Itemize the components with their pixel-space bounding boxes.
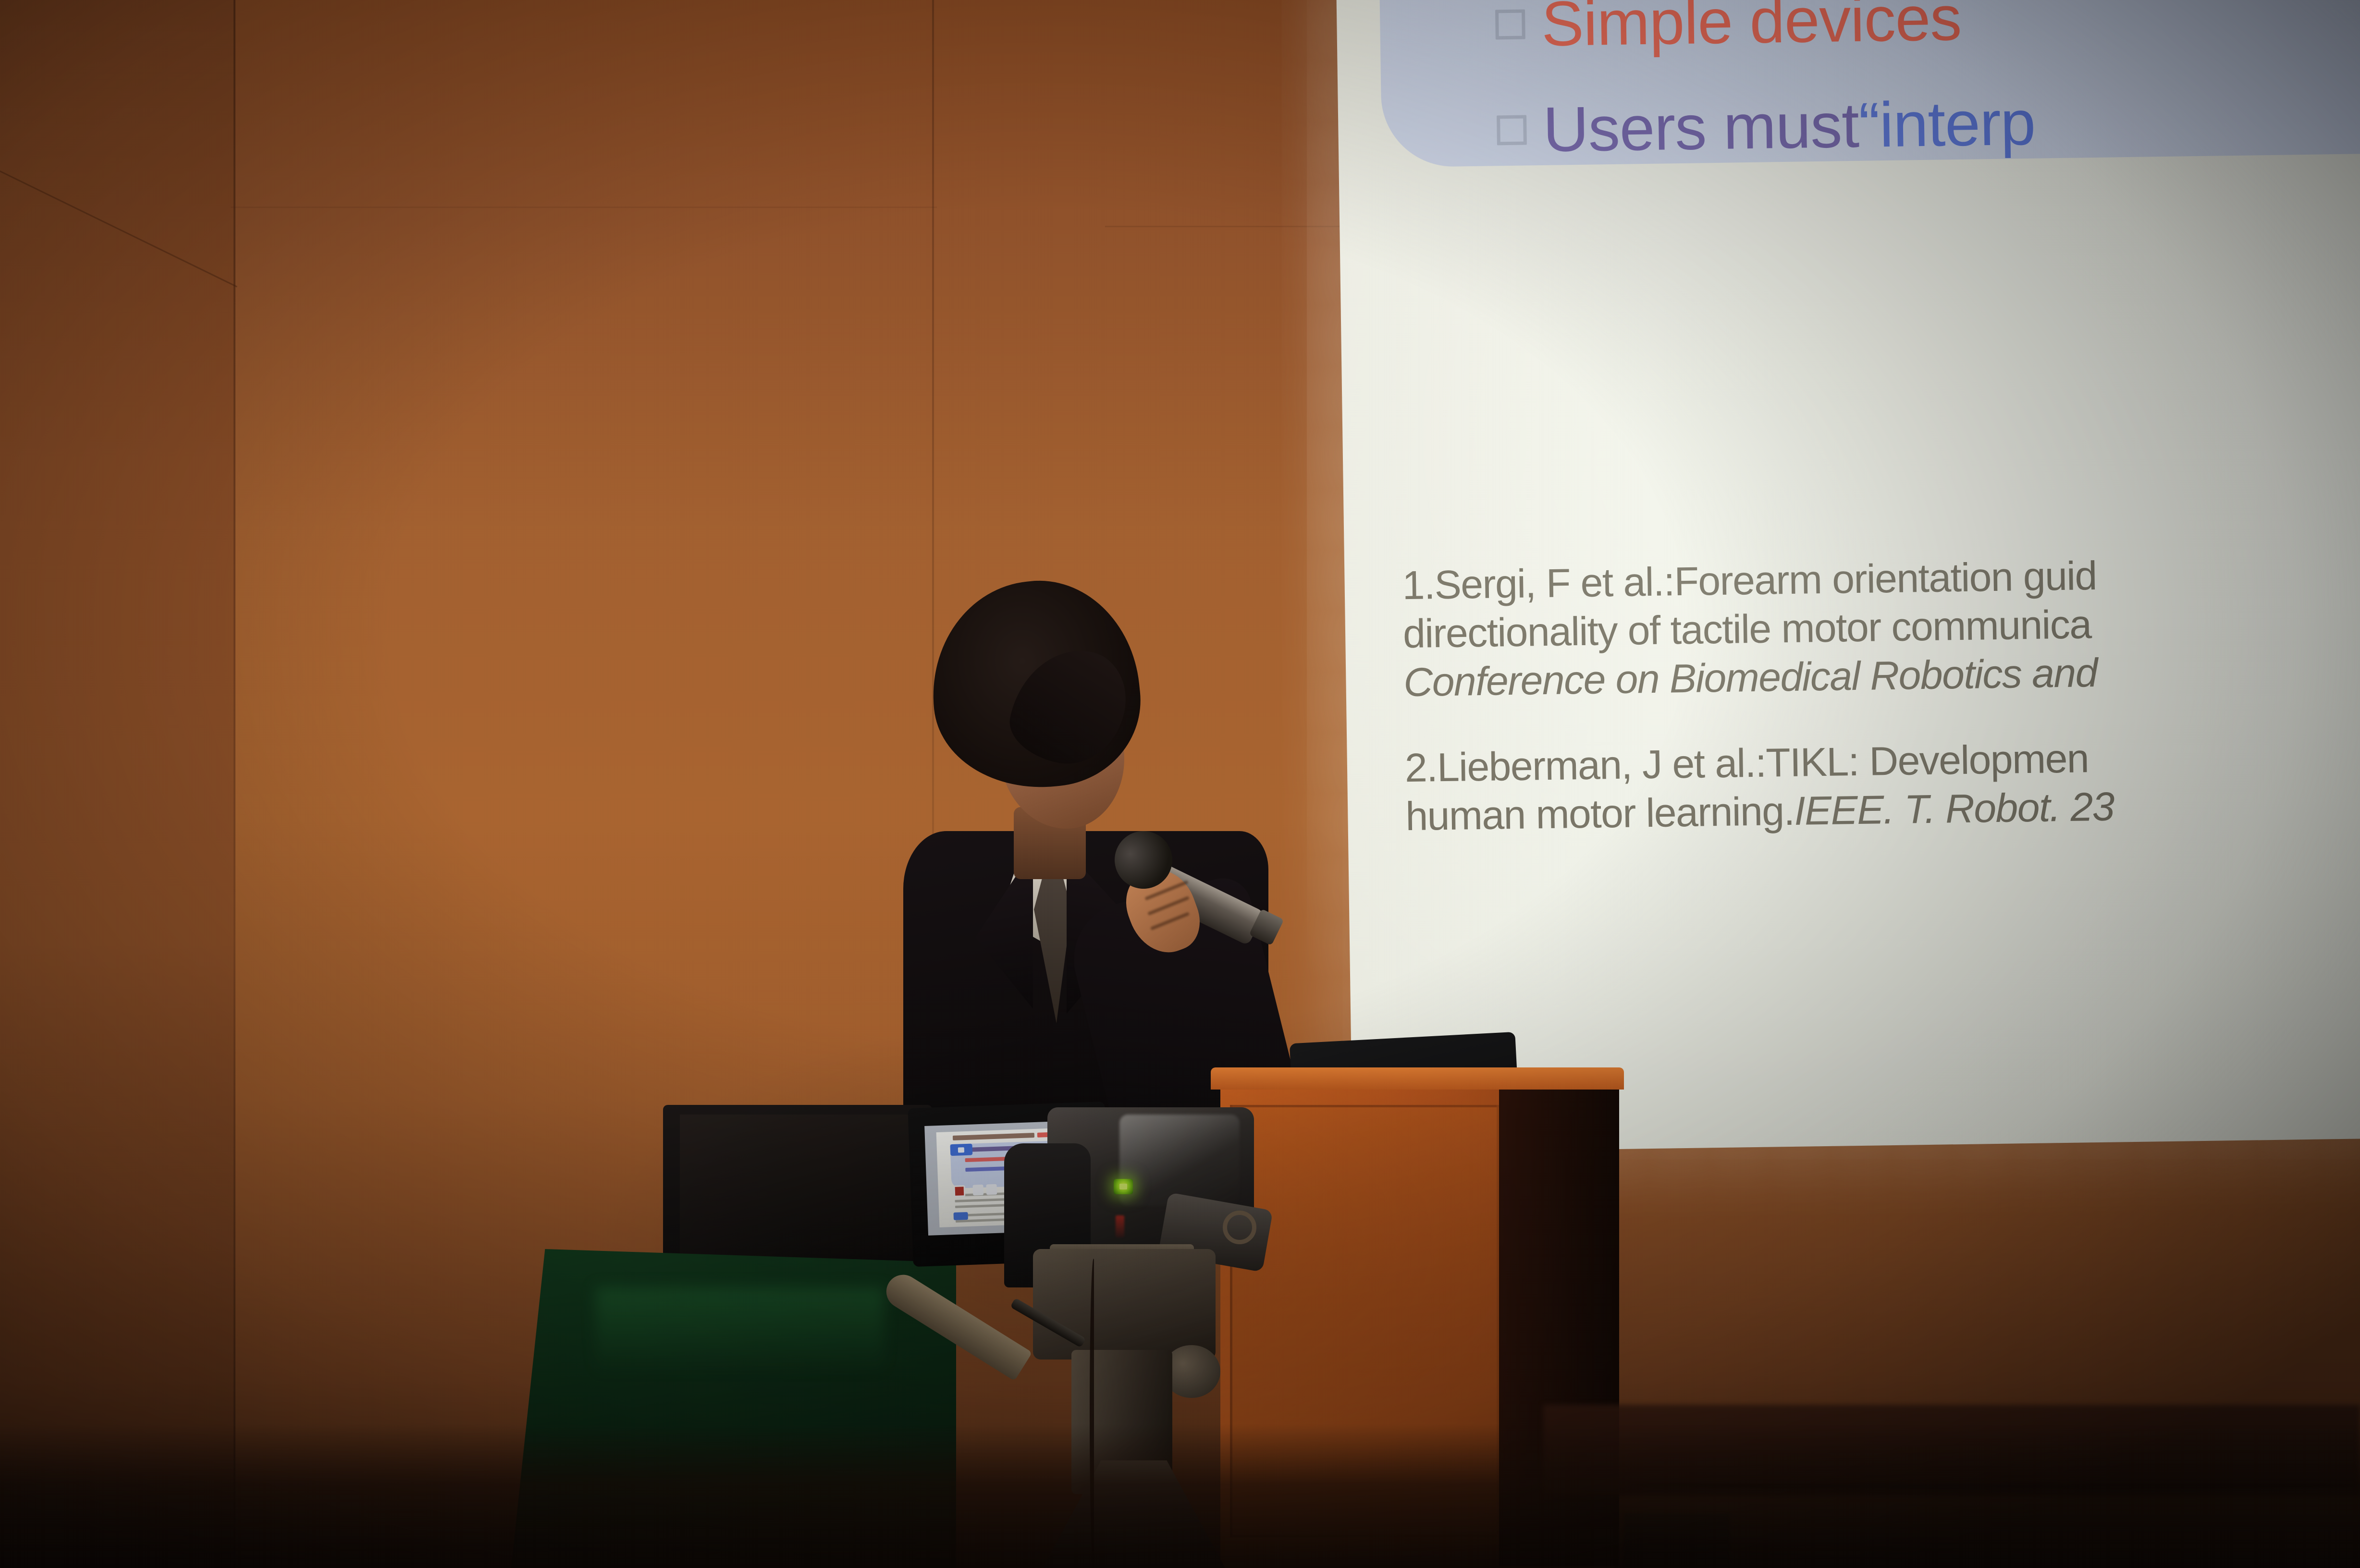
presentation-photo-scene: Vibrotactile sensa Simple devices Users … — [0, 0, 2360, 1568]
photo-vignette — [0, 0, 2360, 1568]
